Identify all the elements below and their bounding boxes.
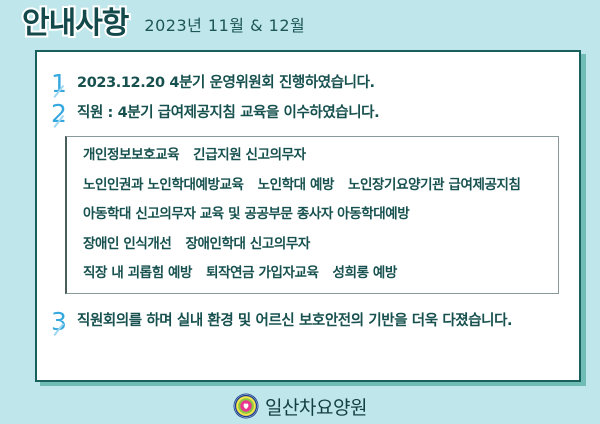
training-item: 개인정보보호교육 [83,147,179,163]
notice-number-2: 2 [51,100,77,126]
training-item: 장애인학대 신고의무자 [185,236,310,252]
header-date: 2023년 11월 & 12월 [144,12,305,36]
content-panel: 1 2023.12.20 4분기 운영위원회 진행하였습니다. 2 직원 : 4… [35,50,581,382]
page-title: 안내사항 [22,9,128,39]
training-line-4: 장애인 인식개선장애인학대 신고의무자 [83,238,548,252]
notice-item-1: 1 2023.12.20 4분기 운영위원회 진행하였습니다. [51,70,565,96]
notice-text-2: 직원 : 4분기 급여제공지침 교육을 이수하였습니다. [77,100,379,124]
training-item: 성희롱 예방 [333,265,397,281]
training-item: 아동학대 신고의무자 교육 및 공공부문 종사자 아동학대예방 [83,206,409,222]
notice-text-3: 직원회의를 하며 실내 환경 및 어르신 보호안전의 기반을 더욱 다졌습니다. [77,308,512,332]
training-item: 퇴작연금 가입자교육 [206,265,318,281]
training-item: 노인장기요양기관 급여제공지침 [348,177,521,193]
training-line-2: 노인인권과 노인학대예방교육노인학대 예방노인장기요양기관 급여제공지침 [83,179,548,193]
training-line-1: 개인정보보호교육긴급지원 신고의무자 [83,149,548,163]
notice-number-3: 3 [51,308,77,334]
notice-number-1: 1 [51,70,77,96]
training-line-3: 아동학대 신고의무자 교육 및 공공부문 종사자 아동학대예방 [83,208,548,222]
notice-item-2: 2 직원 : 4분기 급여제공지침 교육을 이수하였습니다. [51,100,565,126]
page-header: 안내사항 2023년 11월 & 12월 [0,0,600,48]
notice-item-3: 3 직원회의를 하며 실내 환경 및 어르신 보호안전의 기반을 더욱 다졌습니… [51,308,565,334]
notice-text-1: 2023.12.20 4분기 운영위원회 진행하였습니다. [77,70,375,94]
training-item: 긴급지원 신고의무자 [193,147,305,163]
circular-emblem-icon [233,393,259,419]
training-list-box: 개인정보보호교육긴급지원 신고의무자 노인인권과 노인학대예방교육노인학대 예방… [65,136,559,294]
training-item: 장애인 인식개선 [83,236,171,252]
page-footer: 일산차요양원 [0,388,600,424]
training-line-5: 직장 내 괴롭힘 예방퇴작연금 가입자교육성희롱 예방 [83,267,548,281]
training-item: 노인학대 예방 [258,177,334,193]
organization-name: 일산차요양원 [265,393,367,420]
training-item: 직장 내 괴롭힘 예방 [83,265,192,281]
training-item: 노인인권과 노인학대예방교육 [83,177,244,193]
